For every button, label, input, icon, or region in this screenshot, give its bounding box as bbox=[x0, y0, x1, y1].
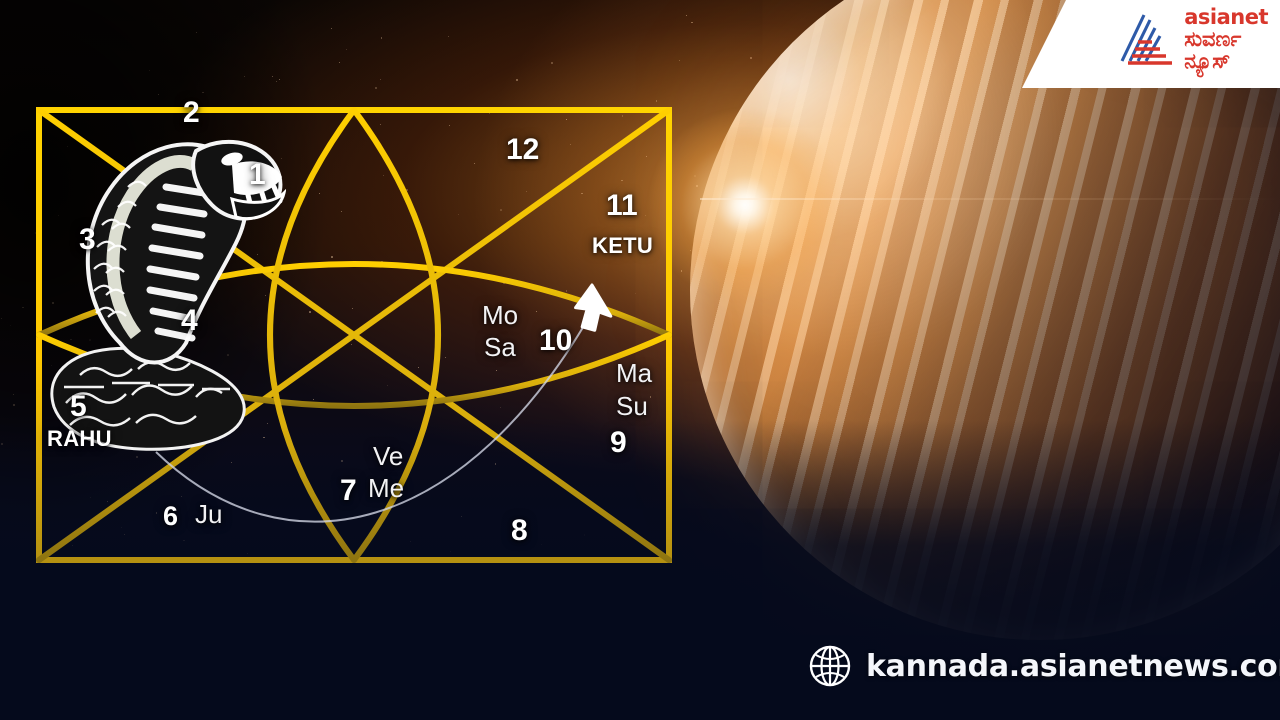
logo-kannada-line2: ನ್ಯೂಸ್ bbox=[1184, 51, 1268, 72]
venus-label: Ve bbox=[373, 443, 403, 470]
screenshot-stage: 1 2 3 4 5 RAHU 6 Ju 7 Ve Me 8 9 Ma Su 10… bbox=[0, 0, 1280, 720]
mercury-label: Me bbox=[368, 475, 404, 502]
house-6-number: 6 bbox=[163, 502, 178, 530]
house-11-number: 11 bbox=[606, 190, 638, 222]
house-4-number: 4 bbox=[181, 305, 198, 337]
house-9-number: 9 bbox=[610, 427, 627, 459]
logo-wordmark: asianet ಸುವರ್ಣ ನ್ಯೂಸ್ bbox=[1184, 7, 1268, 72]
website-url-text: kannada.asianetnews.com bbox=[866, 649, 1280, 684]
house-5-number: 5 bbox=[70, 391, 87, 423]
house-7-number: 7 bbox=[340, 475, 357, 507]
house-12-number: 12 bbox=[506, 134, 539, 166]
kundali-chart: 1 2 3 4 5 RAHU 6 Ju 7 Ve Me 8 9 Ma Su 10… bbox=[36, 107, 672, 563]
lens-streak bbox=[700, 198, 1280, 200]
channel-logo-tab: asianet ಸುವರ್ಣ ನ್ಯೂಸ್ bbox=[1022, 0, 1280, 88]
moon-label: Mo bbox=[482, 302, 518, 329]
mars-label: Ma bbox=[616, 360, 652, 387]
sun-label: Su bbox=[616, 393, 648, 420]
asianet-triangle-icon bbox=[1114, 11, 1176, 69]
house-8-number: 8 bbox=[511, 515, 528, 547]
house-1-number: 1 bbox=[249, 159, 266, 191]
house-2-number: 2 bbox=[183, 97, 200, 129]
sun-flare-icon bbox=[650, 110, 840, 300]
house-10-number: 10 bbox=[539, 325, 572, 357]
logo-asianet-text: asianet bbox=[1184, 7, 1268, 28]
saturn-label: Sa bbox=[484, 334, 516, 361]
globe-icon bbox=[808, 644, 852, 688]
house-3-number: 3 bbox=[79, 224, 96, 256]
logo-kannada-line1: ಸುವರ್ಣ bbox=[1184, 29, 1268, 50]
rahu-label: RAHU bbox=[47, 427, 112, 450]
ketu-label: KETU bbox=[592, 234, 653, 257]
website-url-bar: kannada.asianetnews.com bbox=[808, 644, 1280, 688]
jupiter-label: Ju bbox=[195, 501, 222, 528]
